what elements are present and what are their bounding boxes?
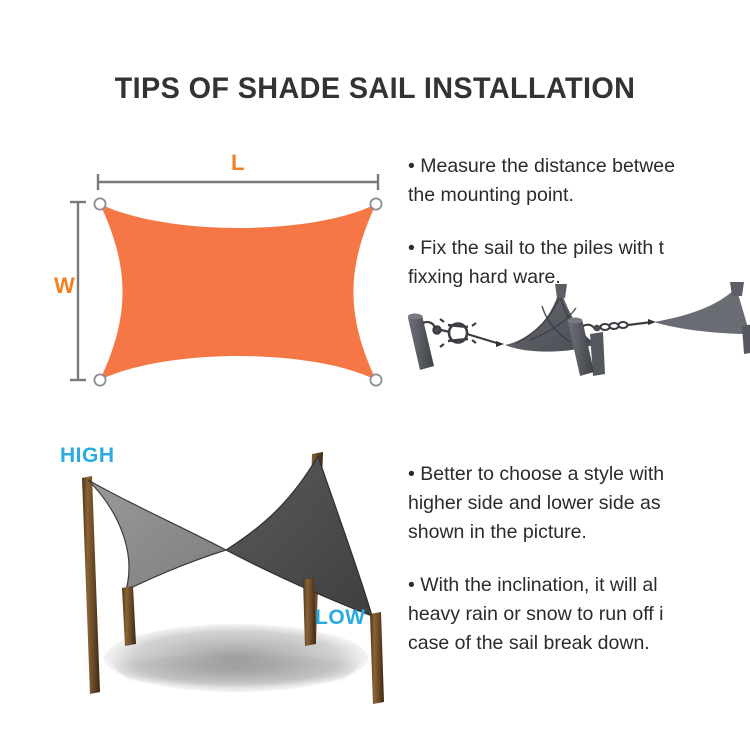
tips-list-bottom: • Better to choose a style with higher s… — [408, 460, 750, 658]
tip-line: • Fix the sail to the piles with t — [408, 234, 750, 263]
tip-line: heavy rain or snow to run off i — [408, 600, 750, 629]
tip-text: Better to choose a style with — [420, 463, 664, 485]
cable-clamp-icon — [496, 341, 504, 347]
tip-line: • With the inclination, it will al — [408, 571, 750, 600]
tip-item-inclination: • With the inclination, it will al heavy… — [408, 571, 750, 658]
grommet-top-right — [370, 198, 381, 209]
low-side-label: LOW — [315, 606, 365, 630]
turnbuckle-icon — [440, 319, 476, 347]
grommet-bottom-right — [370, 374, 381, 385]
ground-shadow-quad — [102, 652, 370, 686]
canopy-sail-dark — [226, 456, 372, 616]
tip-line: the mounting point. — [408, 181, 750, 210]
canopy-svg — [40, 440, 420, 710]
tension-cable — [467, 334, 500, 344]
tip-text: With the inclination, it will al — [420, 574, 657, 596]
tip-item-style: • Better to choose a style with higher s… — [408, 460, 750, 547]
grommet-bottom-left — [94, 374, 105, 385]
tip-text: Fix the sail to the piles with t — [420, 237, 664, 259]
pole-back-left — [82, 476, 100, 694]
length-dimension-label: L — [231, 150, 244, 176]
sail-strap-top — [730, 282, 744, 296]
bullet-glyph: • — [408, 574, 415, 596]
rectangle-sail-diagram: L W — [46, 148, 396, 398]
chain-links-icon — [601, 322, 628, 330]
tip-text: Measure the distance betwee — [420, 155, 675, 177]
snap-hook-icon — [583, 325, 600, 332]
page-title: TIPS OF SHADE SAIL INSTALLATION — [15, 72, 735, 106]
tips-list-top: • Measure the distance betwee the mounti… — [408, 152, 750, 292]
sail-svg — [46, 148, 396, 398]
canopy-sail-light — [88, 480, 226, 590]
hardware-svg — [400, 282, 750, 397]
tip-line: • Measure the distance betwee — [408, 152, 750, 181]
tip-line: shown in the picture. — [408, 518, 750, 547]
infographic-page: TIPS OF SHADE SAIL INSTALLATION L W — [0, 0, 750, 750]
tip-line: case of the sail break down. — [408, 629, 750, 658]
high-low-canopy-diagram: HIGH LOW — [40, 440, 420, 710]
fixing-hardware-illustrations — [400, 282, 750, 397]
tip-item-measure: • Measure the distance betwee the mounti… — [408, 152, 750, 210]
sail-strap-top — [555, 284, 567, 298]
bullet-glyph: • — [408, 237, 415, 259]
length-dimension-line — [98, 174, 378, 190]
tip-line: • Better to choose a style with — [408, 460, 750, 489]
width-dimension-label: W — [54, 273, 75, 299]
sail-strap-right — [742, 324, 750, 354]
sail-corner-wedge — [654, 282, 750, 354]
pole-front-left — [122, 586, 136, 646]
grommet-top-left — [94, 198, 105, 209]
pole-front-right — [370, 612, 384, 704]
bullet-glyph: • — [408, 463, 415, 485]
tip-line: higher side and lower side as — [408, 489, 750, 518]
bullet-glyph: • — [408, 155, 415, 177]
high-side-label: HIGH — [60, 444, 115, 468]
sail-fabric — [100, 204, 376, 380]
